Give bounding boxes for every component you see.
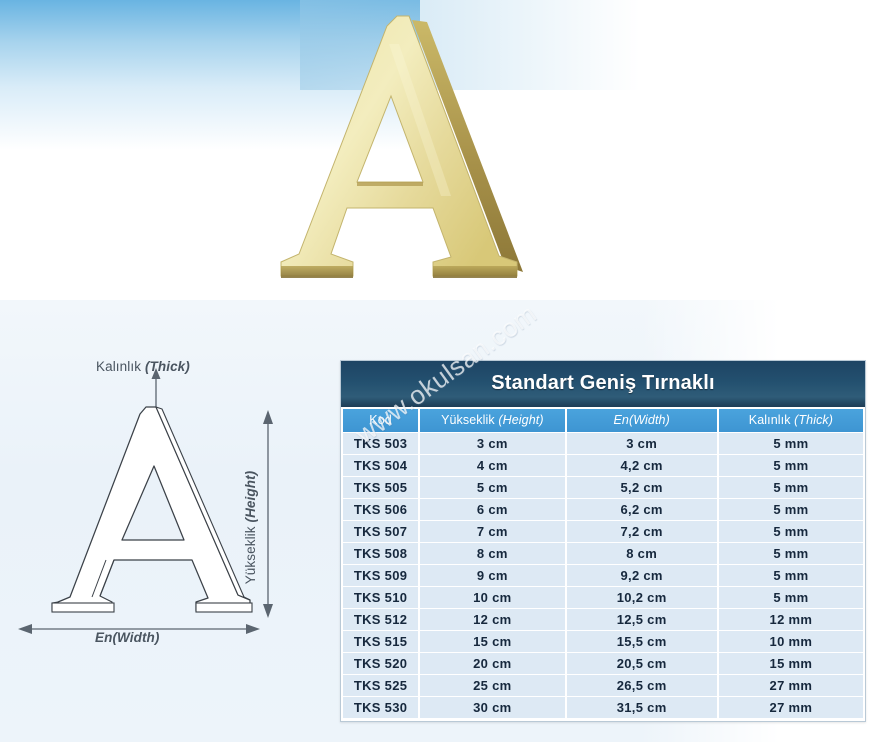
table-row: TKS 5066 cm6,2 cm5 mm: [343, 499, 863, 520]
cell-kod: TKS 507: [343, 521, 418, 542]
cell-thick: 5 mm: [719, 565, 863, 586]
label-thickness-en: (Thick): [145, 359, 190, 374]
cell-kod: TKS 520: [343, 653, 418, 674]
cell-width: 10,2 cm: [567, 587, 717, 608]
spec-table-header-row: Kod Yükseklik (Height) En(Width) Kalınlı…: [343, 409, 863, 432]
cell-height: 30 cm: [420, 697, 564, 718]
cell-kod: TKS 510: [343, 587, 418, 608]
cell-height: 12 cm: [420, 609, 564, 630]
gold-letter-photo: [237, 4, 557, 296]
cell-height: 15 cm: [420, 631, 564, 652]
cell-width: 26,5 cm: [567, 675, 717, 696]
cell-width: 6,2 cm: [567, 499, 717, 520]
spec-table-title: Standart Geniş Tırnaklı: [341, 361, 865, 407]
cell-thick: 5 mm: [719, 587, 863, 608]
cell-width: 8 cm: [567, 543, 717, 564]
cell-height: 8 cm: [420, 543, 564, 564]
cell-thick: 15 mm: [719, 653, 863, 674]
table-row: TKS 52020 cm20,5 cm15 mm: [343, 653, 863, 674]
label-height-en: (Height): [243, 471, 258, 523]
column-header-thick: Kalınlık (Thick): [719, 409, 863, 432]
label-height: Yükseklik (Height): [243, 265, 258, 440]
cell-kod: TKS 525: [343, 675, 418, 696]
product-spec-page: Kalınlık (Thick) En(Width) Yükseklik (He…: [0, 0, 894, 742]
cell-thick: 5 mm: [719, 521, 863, 542]
label-width: En(Width): [95, 630, 160, 645]
spec-table-body: TKS 5033 cm3 cm5 mmTKS 5044 cm4,2 cm5 mm…: [343, 433, 863, 718]
column-header-kod: Kod: [343, 409, 418, 432]
label-thickness: Kalınlık (Thick): [96, 359, 190, 374]
cell-kod: TKS 504: [343, 455, 418, 476]
cell-height: 25 cm: [420, 675, 564, 696]
cell-width: 12,5 cm: [567, 609, 717, 630]
cell-thick: 5 mm: [719, 455, 863, 476]
cell-thick: 27 mm: [719, 675, 863, 696]
table-row: TKS 5033 cm3 cm5 mm: [343, 433, 863, 454]
cell-width: 7,2 cm: [567, 521, 717, 542]
cell-kod: TKS 506: [343, 499, 418, 520]
cell-height: 5 cm: [420, 477, 564, 498]
cell-kod: TKS 515: [343, 631, 418, 652]
table-row: TKS 52525 cm26,5 cm27 mm: [343, 675, 863, 696]
cell-width: 5,2 cm: [567, 477, 717, 498]
cell-kod: TKS 512: [343, 609, 418, 630]
dimension-diagram: [10, 352, 330, 662]
table-row: TKS 5044 cm4,2 cm5 mm: [343, 455, 863, 476]
table-row: TKS 51212 cm12,5 cm12 mm: [343, 609, 863, 630]
cell-height: 20 cm: [420, 653, 564, 674]
cell-thick: 27 mm: [719, 697, 863, 718]
cell-height: 10 cm: [420, 587, 564, 608]
cell-kod: TKS 503: [343, 433, 418, 454]
cell-width: 4,2 cm: [567, 455, 717, 476]
table-row: TKS 51010 cm10,2 cm5 mm: [343, 587, 863, 608]
table-row: TKS 5099 cm9,2 cm5 mm: [343, 565, 863, 586]
cell-thick: 12 mm: [719, 609, 863, 630]
table-row: TKS 5088 cm8 cm5 mm: [343, 543, 863, 564]
table-row: TKS 5055 cm5,2 cm5 mm: [343, 477, 863, 498]
column-header-height: Yükseklik (Height): [420, 409, 564, 432]
cell-height: 3 cm: [420, 433, 564, 454]
cell-width: 31,5 cm: [567, 697, 717, 718]
table-row: TKS 53030 cm31,5 cm27 mm: [343, 697, 863, 718]
label-thickness-tr: Kalınlık: [96, 359, 141, 374]
table-row: TKS 51515 cm15,5 cm10 mm: [343, 631, 863, 652]
cell-width: 3 cm: [567, 433, 717, 454]
cell-height: 4 cm: [420, 455, 564, 476]
label-width-text: En(Width): [95, 630, 160, 645]
cell-kod: TKS 530: [343, 697, 418, 718]
spec-table: Kod Yükseklik (Height) En(Width) Kalınlı…: [341, 408, 865, 719]
cell-height: 7 cm: [420, 521, 564, 542]
spec-table-head: Kod Yükseklik (Height) En(Width) Kalınlı…: [343, 409, 863, 432]
cell-height: 6 cm: [420, 499, 564, 520]
column-header-width: En(Width): [567, 409, 717, 432]
spec-table-card: Standart Geniş Tırnaklı Kod Yükseklik (H…: [340, 360, 866, 722]
cell-width: 20,5 cm: [567, 653, 717, 674]
cell-kod: TKS 505: [343, 477, 418, 498]
table-row: TKS 5077 cm7,2 cm5 mm: [343, 521, 863, 542]
cell-thick: 5 mm: [719, 499, 863, 520]
cell-kod: TKS 509: [343, 565, 418, 586]
cell-height: 9 cm: [420, 565, 564, 586]
cell-thick: 5 mm: [719, 543, 863, 564]
cell-thick: 10 mm: [719, 631, 863, 652]
cell-width: 9,2 cm: [567, 565, 717, 586]
label-height-tr: Yükseklik: [243, 526, 258, 584]
cell-thick: 5 mm: [719, 433, 863, 454]
cell-thick: 5 mm: [719, 477, 863, 498]
cell-width: 15,5 cm: [567, 631, 717, 652]
cell-kod: TKS 508: [343, 543, 418, 564]
